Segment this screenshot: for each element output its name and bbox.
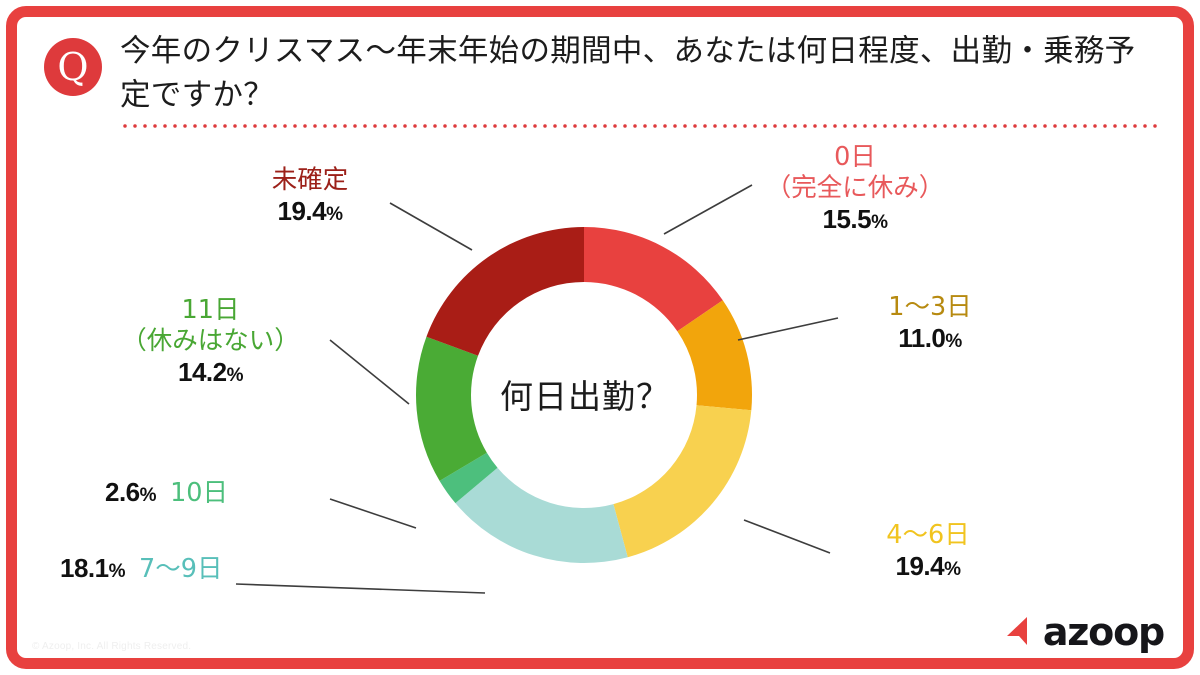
azoop-logo: azoop <box>1005 615 1164 649</box>
copyright-text: © Azoop, Inc. All Rights Reserved. <box>32 641 191 652</box>
dotted-divider <box>120 124 1160 128</box>
page-title: 今年のクリスマス〜年末年始の期間中、あなたは何日程度、出勤・乗務予定ですか？ <box>120 30 1160 118</box>
slide-root: Q 今年のクリスマス〜年末年始の期間中、あなたは何日程度、出勤・乗務予定ですか？… <box>0 0 1200 675</box>
azoop-wordmark: azoop <box>1043 615 1164 649</box>
azoop-mark-icon <box>1005 615 1039 649</box>
question-header: Q 今年のクリスマス〜年末年始の期間中、あなたは何日程度、出勤・乗務予定ですか？ <box>36 28 1166 128</box>
question-badge-icon: Q <box>44 38 102 96</box>
